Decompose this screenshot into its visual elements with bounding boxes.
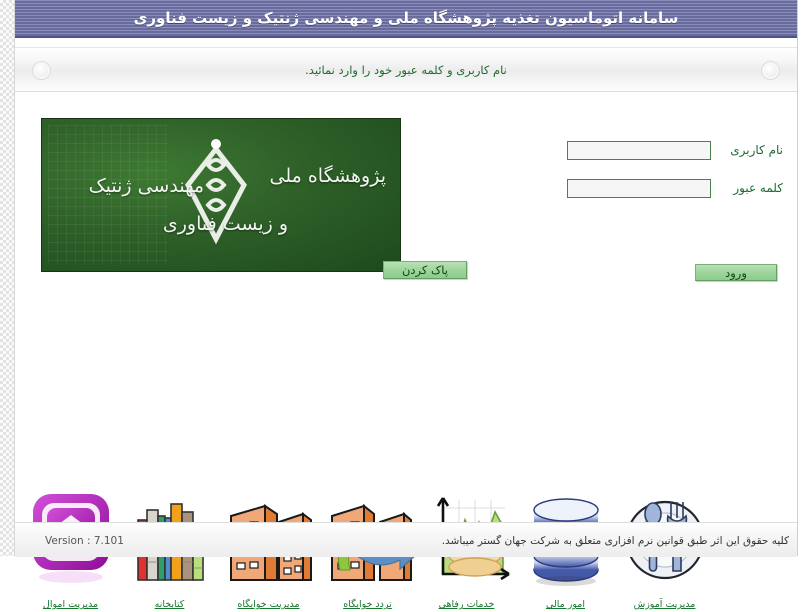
password-label: کلمه عبور [711,181,797,195]
main-content: پژوهشگاه ملی مهندسی ژنتیک و زیست فناوری … [15,92,797,392]
login-page: سامانه اتوماسیون تغذیه پژوهشگاه ملی و مه… [0,0,804,556]
banner-line-2: مهندسی ژنتیک [89,175,204,197]
shortcut-label: کتابخانه [120,599,219,610]
username-row: نام کاربری [487,136,797,164]
login-form: نام کاربری کلمه عبور [487,136,797,212]
version-text: Version : 7.101 [45,535,124,547]
shortcut-label: مدیریت خوابگاه [219,599,318,610]
username-input[interactable] [567,141,711,160]
password-row: کلمه عبور [487,174,797,202]
shortcut-label: مدیریت آموزش [615,599,714,610]
app-titlebar: سامانه اتوماسیون تغذیه پژوهشگاه ملی و مه… [15,0,797,38]
instruction-text: نام کاربری و کلمه عبور خود را وارد نمائی… [305,63,507,77]
banner-line-3: و زیست فناوری [163,213,288,235]
login-button[interactable]: ورود [695,264,777,281]
password-input[interactable] [567,179,711,198]
username-label: نام کاربری [711,143,797,157]
circle-icon-left[interactable] [32,61,51,80]
shortcut-label: مدیریت اموال [21,599,120,610]
page-shell: سامانه اتوماسیون تغذیه پژوهشگاه ملی و مه… [15,0,797,556]
clear-button[interactable]: پاک کردن [383,261,467,279]
page-title: سامانه اتوماسیون تغذیه پژوهشگاه ملی و مه… [134,9,679,27]
left-decorative-strip [0,0,15,556]
page-footer: کلیه حقوق این اثر طبق قوانین نرم افزاری … [15,522,797,557]
banner-line-1: پژوهشگاه ملی [270,165,387,187]
shortcut-label: خدمات رفاهی [417,599,516,610]
shortcut-label: تردد خوابگاه [318,599,417,610]
institute-banner: پژوهشگاه ملی مهندسی ژنتیک و زیست فناوری [41,118,401,272]
shortcut-label: امور مالی [516,599,615,610]
circle-icon-right[interactable] [761,61,780,80]
instruction-bar: نام کاربری و کلمه عبور خود را وارد نمائی… [15,47,797,92]
copyright-text: کلیه حقوق این اثر طبق قوانین نرم افزاری … [442,535,789,547]
right-decorative-strip [797,0,804,556]
